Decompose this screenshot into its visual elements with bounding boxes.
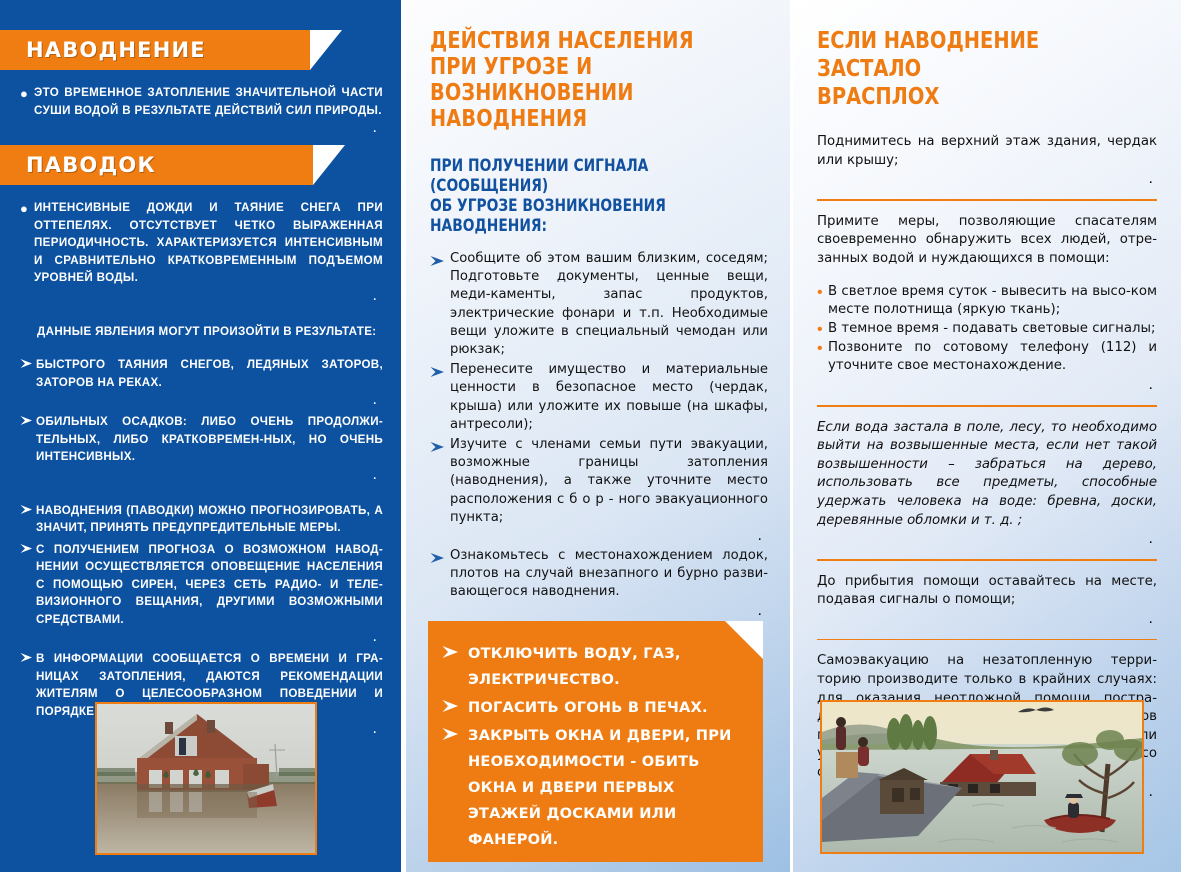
middle-item-text: Ознакомьтесь с местонахождением лодок, п… bbox=[450, 547, 768, 602]
trailing-dot: . bbox=[430, 527, 768, 545]
ribbon-pavodok: ПАВОДОК bbox=[0, 145, 401, 185]
arrow-bullet-icon bbox=[20, 413, 36, 466]
list-item: Изучите с членами семьи пути эвакуации, … bbox=[430, 436, 768, 527]
bullet-dot-icon: ● bbox=[20, 84, 34, 119]
left-cause-text: БЫСТРОГО ТАЯНИЯ СНЕГОВ, ЛЕДЯНЫХ ЗАТОРОВ,… bbox=[36, 356, 383, 391]
divider bbox=[817, 559, 1157, 561]
arrow-bullet-icon bbox=[20, 541, 36, 629]
list-item: Ознакомьтесь с местонахождением лодок, п… bbox=[430, 547, 768, 602]
right-paragraph-1: Поднимитесь на верхний этаж здания, черд… bbox=[817, 133, 1157, 170]
corner-fold-icon bbox=[725, 621, 763, 659]
right-title-line1: ЕСЛИ НАВОДНЕНИЕ ЗАСТАЛО bbox=[817, 27, 1137, 83]
middle-subtitle-line2: ОБ УГРОЗЕ ВОЗНИКНОВЕНИЯ НАВОДНЕНИЯ: bbox=[430, 196, 744, 236]
list-item: С ПОЛУЧЕНИЕМ ПРОГНОЗА О ВОЗМОЖНОМ НАВОД-… bbox=[20, 541, 383, 629]
left-section-2-body: ● ИНТЕНСИВНЫЕ ДОЖДИ И ТАЯНИЕ СНЕГА ПРИ О… bbox=[0, 199, 401, 738]
arrow-bullet-icon bbox=[442, 695, 468, 721]
trailing-dot: . bbox=[20, 391, 383, 409]
middle-item-text: Изучите с членами семьи пути эвакуации, … bbox=[450, 436, 768, 527]
flood-rooftops-illustration bbox=[820, 700, 1144, 854]
orange-action-box: ОТКЛЮЧИТЬ ВОДУ, ГАЗ, ЭЛЕКТРИЧЕСТВО. ПОГА… bbox=[428, 621, 763, 862]
ribbon-navodnenie: НАВОДНЕНИЕ bbox=[0, 30, 401, 70]
list-item: ЗАКРЫТЬ ОКНА И ДВЕРИ, ПРИ НЕОБХОДИМОСТИ … bbox=[442, 723, 745, 853]
bullet-dot-icon: ● bbox=[20, 199, 34, 287]
middle-title-line2: ПРИ УГРОЗЕ И ВОЗНИКНОВЕНИИ bbox=[430, 54, 744, 106]
list-item: ОТКЛЮЧИТЬ ВОДУ, ГАЗ, ЭЛЕКТРИЧЕСТВО. bbox=[442, 641, 745, 693]
list-item: Сообщите об этом вашим близким, соседям;… bbox=[430, 250, 768, 359]
middle-item-text: Сообщите об этом вашим близким, соседям;… bbox=[450, 250, 768, 359]
left-section-1-body: ● ЭТО ВРЕМЕННОЕ ЗАТОПЛЕНИЕ ЗНАЧИТЕЛЬНОЙ … bbox=[0, 84, 401, 137]
ribbon-title-navodnenie: НАВОДНЕНИЕ bbox=[26, 38, 206, 62]
right-paragraph-3: Если вода застала в поле, лесу, то необх… bbox=[817, 419, 1157, 531]
right-bullet-text: В светлое время суток - вывесить на высо… bbox=[828, 283, 1157, 320]
right-bullet-text: В темное время - подавать световые сигна… bbox=[828, 320, 1155, 339]
list-item: ● ИНТЕНСИВНЫЕ ДОЖДИ И ТАЯНИЕ СНЕГА ПРИ О… bbox=[20, 199, 383, 287]
bullet-dot-icon: • bbox=[817, 283, 828, 320]
ribbon-fold-icon bbox=[310, 30, 342, 70]
arrow-bullet-icon bbox=[442, 723, 468, 853]
orange-box-item-text: ОТКЛЮЧИТЬ ВОДУ, ГАЗ, ЭЛЕКТРИЧЕСТВО. bbox=[468, 641, 745, 693]
trailing-dot: . bbox=[20, 287, 383, 305]
middle-title-line3: НАВОДНЕНИЯ bbox=[430, 106, 744, 132]
orange-box-item-text: ЗАКРЫТЬ ОКНА И ДВЕРИ, ПРИ НЕОБХОДИМОСТИ … bbox=[468, 723, 745, 853]
trailing-dot: . bbox=[20, 628, 383, 646]
bullet-dot-icon: • bbox=[817, 320, 828, 339]
brochure-page: НАВОДНЕНИЕ ● ЭТО ВРЕМЕННОЕ ЗАТОПЛЕНИЕ ЗН… bbox=[0, 0, 1181, 872]
trailing-dot: . bbox=[430, 602, 768, 620]
arrow-bullet-icon bbox=[430, 361, 450, 434]
left-measure-text: НАВОДНЕНИЯ (ПАВОДКИ) МОЖНО ПРОГНОЗИРОВАТ… bbox=[36, 502, 383, 537]
divider bbox=[817, 639, 1157, 641]
middle-action-list: Сообщите об этом вашим близким, соседям;… bbox=[430, 250, 768, 620]
list-item: Перенесите имущество и материальные ценн… bbox=[430, 361, 768, 434]
orange-box-item-text: ПОГАСИТЬ ОГОНЬ В ПЕЧАХ. bbox=[468, 695, 708, 721]
bullet-dot-icon: • bbox=[817, 339, 828, 376]
trailing-dot: . bbox=[817, 530, 1157, 548]
list-item: • В темное время - подавать световые сиг… bbox=[817, 320, 1157, 339]
right-title-line2: ВРАСПЛОХ bbox=[817, 83, 1137, 111]
arrow-bullet-icon bbox=[20, 650, 36, 720]
list-item: • В светлое время суток - вывесить на вы… bbox=[817, 283, 1157, 320]
left-cause-text: ОБИЛЬНЫХ ОСАДКОВ: ЛИБО ОЧЕНЬ ПРОДОЛЖИ-ТЕ… bbox=[36, 413, 383, 466]
middle-subtitle-line1: ПРИ ПОЛУЧЕНИИ СИГНАЛА (СООБЩЕНИЯ) bbox=[430, 156, 744, 196]
left-bullet-text: ЭТО ВРЕМЕННОЕ ЗАТОПЛЕНИЕ ЗНАЧИТЕЛЬНОЙ ЧА… bbox=[34, 84, 383, 119]
left-bullet-text: ИНТЕНСИВНЫЕ ДОЖДИ И ТАЯНИЕ СНЕГА ПРИ ОТТ… bbox=[34, 199, 383, 287]
trailing-dot: . bbox=[817, 376, 1157, 394]
left-causes-list: БЫСТРОГО ТАЯНИЯ СНЕГОВ, ЛЕДЯНЫХ ЗАТОРОВ,… bbox=[20, 356, 383, 484]
list-item: БЫСТРОГО ТАЯНИЯ СНЕГОВ, ЛЕДЯНЫХ ЗАТОРОВ,… bbox=[20, 356, 383, 391]
trailing-dot: . bbox=[20, 119, 383, 137]
trailing-dot: . bbox=[817, 610, 1157, 628]
list-item: ● ЭТО ВРЕМЕННОЕ ЗАТОПЛЕНИЕ ЗНАЧИТЕЛЬНОЙ … bbox=[20, 84, 383, 119]
right-paragraph-2: Примите меры, позволяющие спасателям сво… bbox=[817, 213, 1157, 269]
arrow-bullet-icon bbox=[430, 547, 450, 602]
trailing-dot: . bbox=[20, 466, 383, 484]
divider bbox=[817, 405, 1157, 407]
flooded-house-photo bbox=[95, 702, 317, 855]
left-measure-text: С ПОЛУЧЕНИЕМ ПРОГНОЗА О ВОЗМОЖНОМ НАВОД-… bbox=[36, 541, 383, 629]
list-item: ОБИЛЬНЫХ ОСАДКОВ: ЛИБО ОЧЕНЬ ПРОДОЛЖИ-ТЕ… bbox=[20, 413, 383, 466]
list-item: • Позвоните по сотовому телефону (112) и… bbox=[817, 339, 1157, 376]
middle-title-line1: ДЕЙСТВИЯ НАСЕЛЕНИЯ bbox=[430, 28, 744, 54]
right-bullet-text: Позвоните по сотовому телефону (112) и у… bbox=[828, 339, 1157, 376]
arrow-bullet-icon bbox=[20, 502, 36, 537]
ribbon-fold-icon bbox=[313, 145, 345, 185]
middle-item-text: Перенесите имущество и материальные ценн… bbox=[450, 361, 768, 434]
left-section-note: ДАННЫЕ ЯВЛЕНИЯ МОГУТ ПРОИЗОЙТИ В РЕЗУЛЬТ… bbox=[37, 323, 383, 341]
divider bbox=[817, 199, 1157, 201]
arrow-bullet-icon bbox=[430, 250, 450, 359]
arrow-bullet-icon bbox=[20, 356, 36, 391]
ribbon-title-pavodok: ПАВОДОК bbox=[26, 153, 156, 177]
right-paragraph-4: До прибытия помощи оставайтесь на месте,… bbox=[817, 573, 1157, 610]
trailing-dot: . bbox=[817, 170, 1157, 188]
list-item: ПОГАСИТЬ ОГОНЬ В ПЕЧАХ. bbox=[442, 695, 745, 721]
right-bullet-list: • В светлое время суток - вывесить на вы… bbox=[817, 283, 1157, 394]
arrow-bullet-icon bbox=[442, 641, 468, 693]
list-item: НАВОДНЕНИЯ (ПАВОДКИ) МОЖНО ПРОГНОЗИРОВАТ… bbox=[20, 502, 383, 537]
arrow-bullet-icon bbox=[430, 436, 450, 527]
